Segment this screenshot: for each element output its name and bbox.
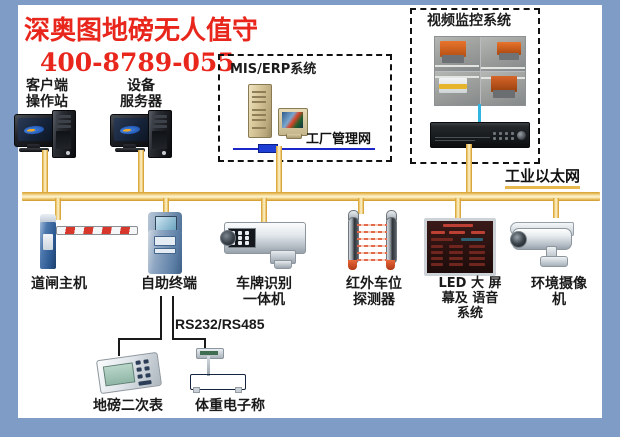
barrier-gate-icon: [36, 214, 141, 270]
factory-network-connector: [258, 144, 278, 153]
label-infrared-detector: 红外车位 探测器: [330, 276, 418, 308]
dvr-video-link: [478, 104, 481, 122]
serial-wire-horizontal-left: [118, 338, 162, 340]
label-lpr-camera: 车牌识别 一体机: [218, 276, 310, 308]
weighbridge-indicator-icon: [96, 352, 162, 394]
drop-environment-camera: [553, 198, 559, 218]
page-title: 深奥图地磅无人值守: [24, 17, 258, 45]
label-weighbridge-indicator: 地磅二次表: [78, 398, 178, 414]
drop-client-workstation: [42, 150, 48, 196]
industrial-ethernet-bus: [22, 192, 600, 201]
label-environment-camera: 环境摄像 机: [516, 276, 602, 308]
phone-number: 400-8789-055: [40, 50, 235, 76]
drop-device-server: [138, 150, 144, 196]
electronic-scale-icon: [186, 348, 248, 396]
diagram-canvas: 深奥图地磅无人值守 400-8789-055 客户端 操作站 设备 服务器 MI…: [0, 0, 620, 437]
serial-bus-label: RS232/RS485: [175, 316, 265, 332]
label-client-workstation: 客户端 操作站: [6, 78, 88, 110]
drop-led-display: [455, 198, 461, 218]
mis-erp-title: MIS/ERP系统: [230, 62, 316, 77]
dvr-icon: [430, 122, 530, 148]
quad-monitor-icon: [434, 36, 526, 106]
serial-wire-kiosk-left: [160, 296, 162, 340]
factory-network-line: [233, 148, 375, 150]
drop-lpr-camera: [261, 198, 267, 222]
client-workstation-icon: [14, 108, 76, 156]
drop-mis-erp: [276, 146, 282, 196]
label-barrier-gate: 道闸主机: [14, 276, 104, 292]
label-electronic-scale: 体重电子称: [180, 398, 280, 414]
industrial-ethernet-label: 工业以太网: [505, 168, 580, 189]
drop-video-system: [466, 144, 472, 196]
label-led-display: LED 大 屏 幕及 语音 系统: [424, 276, 516, 321]
serial-wire-horizontal-right: [172, 338, 206, 340]
label-device-server: 设备 服务器: [100, 78, 182, 110]
factory-network-label: 工厂管理网: [306, 128, 371, 147]
label-self-service-kiosk: 自助终端: [126, 276, 212, 292]
environment-camera-icon: [506, 218, 586, 274]
serial-wire-kiosk-right: [172, 296, 174, 338]
infrared-detector-icon: [344, 210, 406, 274]
device-server-icon: [110, 108, 172, 156]
video-surveillance-title: 视频监控系统: [427, 14, 511, 29]
led-display-icon: [424, 218, 496, 276]
self-service-kiosk-icon: [146, 212, 190, 274]
lpr-camera-icon: [218, 220, 310, 272]
